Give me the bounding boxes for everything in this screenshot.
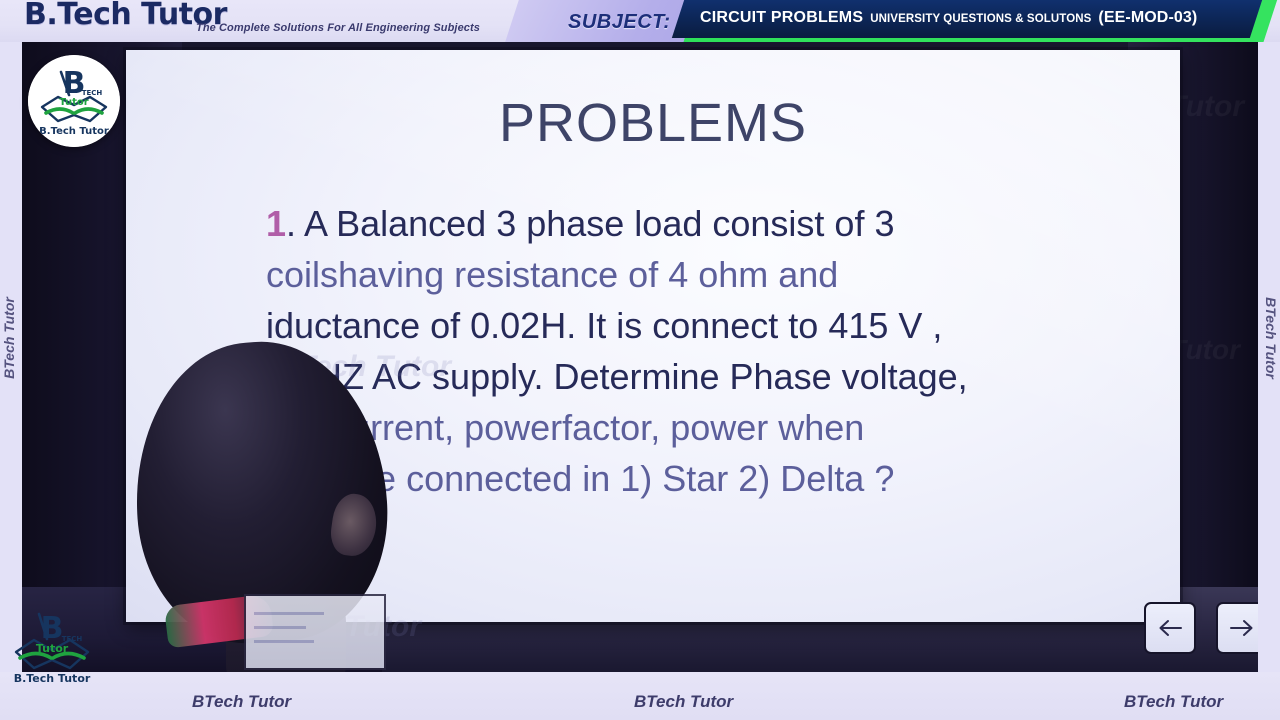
slide-body-text: 1. A Balanced 3 phase load consist of 3 … (266, 198, 1166, 504)
bottom-watermark-3: BTech Tutor (1124, 692, 1223, 712)
subject-banner-text: CIRCUIT PROBLEMS UNIVERSITY QUESTIONS & … (700, 9, 1260, 33)
svg-text:TECH: TECH (82, 89, 103, 97)
side-watermark-right: BTech Tutor (1263, 297, 1279, 379)
bottom-bar: BTech Tutor BTech Tutor BTech Tutor (0, 672, 1280, 720)
projection-screen: PROBLEMS 1. A Balanced 3 phase load cons… (126, 50, 1180, 622)
forward-arrow-icon (1229, 618, 1255, 638)
btech-tutor-logo-bottom-icon: B TECH Tutor B.Tech Tutor (6, 612, 98, 686)
slide-line-3: iductance of 0.02H. It is connect to 415… (266, 300, 1166, 351)
svg-text:B.Tech Tutor: B.Tech Tutor (39, 126, 109, 137)
slide-line-2: coilshaving resistance of 4 ohm and (266, 249, 1166, 300)
brand-tagline: The Complete Solutions For All Engineeri… (196, 22, 480, 34)
top-header-bar: B.Tech Tutor The Complete Solutions For … (0, 0, 1280, 42)
banner-subtitle: UNIVERSITY QUESTIONS & SOLUTONS (870, 13, 1091, 25)
logo-badge-top: B TECH Tutor B.Tech Tutor (28, 55, 120, 147)
slide-line-4: 50 HZ AC supply. Determine Phase voltage… (266, 351, 1166, 402)
slide-next-button[interactable] (1216, 602, 1258, 654)
slide-back-button[interactable] (1144, 602, 1196, 654)
slide-title: PROBLEMS (126, 92, 1180, 154)
slide-line-1: 1. A Balanced 3 phase load consist of 3 (266, 198, 1166, 249)
svg-text:Tutor: Tutor (59, 97, 88, 108)
bottom-watermark-2: BTech Tutor (634, 692, 733, 712)
slide-line-1-text: . A Balanced 3 phase load consist of 3 (286, 203, 894, 244)
slide-line-5: line current, powerfactor, power when (266, 402, 1166, 453)
desk-monitor (244, 594, 386, 670)
problem-number: 1 (266, 203, 286, 244)
svg-text:B.Tech Tutor: B.Tech Tutor (14, 672, 91, 685)
btech-tutor-logo-icon: B TECH Tutor B.Tech Tutor (28, 55, 120, 147)
back-arrow-icon (1157, 618, 1183, 638)
banner-main-title: CIRCUIT PROBLEMS (700, 9, 863, 27)
logo-badge-bottom: B TECH Tutor B.Tech Tutor (6, 612, 98, 686)
svg-text:Tutor: Tutor (36, 642, 69, 655)
side-watermark-left: BTech Tutor (1, 297, 17, 379)
banner-module-code: (EE-MOD-03) (1098, 9, 1197, 27)
slide-line-6: they are connected in 1) Star 2) Delta ? (266, 453, 1166, 504)
video-frame[interactable]: Tutor Tutor PROBLEMS 1. A Balanced 3 pha… (22, 42, 1258, 672)
subject-label: SUBJECT: (568, 11, 671, 34)
bottom-watermark-1: BTech Tutor (192, 692, 291, 712)
